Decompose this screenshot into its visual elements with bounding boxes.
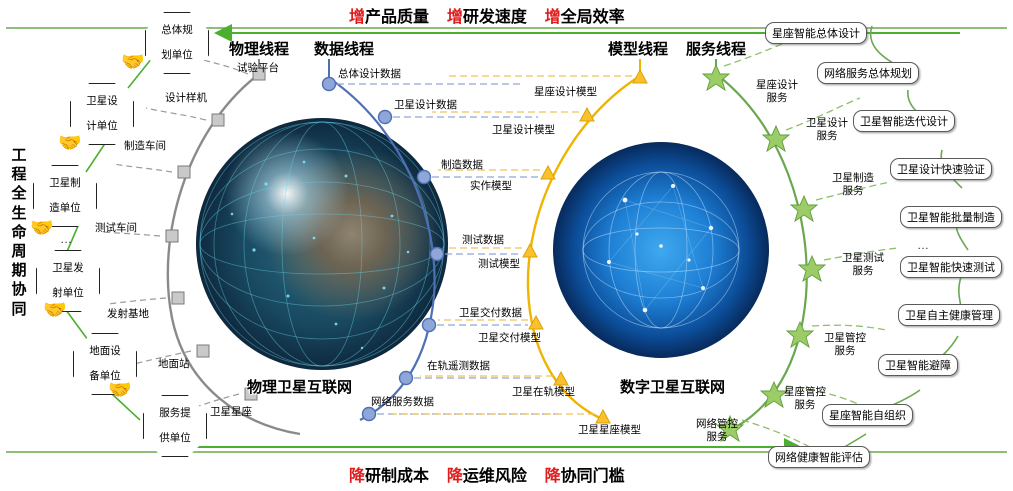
physical-globe-mesh (196, 118, 448, 370)
physical-node-label-6: 卫星星座 (210, 406, 252, 419)
unit-ellipsis: … (60, 232, 74, 246)
capability-box-8[interactable]: 星座智能自组织 (822, 404, 913, 426)
service-node-label-2: 卫星制造服务 (826, 172, 880, 197)
capability-box-4[interactable]: 卫星智能批量制造 (900, 206, 1002, 228)
digital-satellite-internet-globe (553, 142, 769, 358)
handshake-icon-4: 🤝 (108, 380, 132, 402)
top-banner-item-1: 增研发速度 (447, 9, 527, 26)
diagram-canvas: 增产品质量 增研发速度 增全局效率 降研制成本 降运维风险 降协同门槛 物理线程… (0, 0, 1013, 491)
capability-box-2[interactable]: 卫星智能迭代设计 (853, 110, 955, 132)
service-node-label-3: 卫星测试服务 (836, 252, 890, 277)
model-node-label-3: 测试模型 (478, 258, 520, 271)
bottom-banner-item-0: 降研制成本 (349, 468, 429, 485)
data-node-label-4: 卫星交付数据 (459, 307, 522, 320)
thread-header-service: 服务线程 (686, 38, 746, 59)
physical-satellite-internet-globe (196, 118, 448, 370)
physical-node-label-3: 测试车间 (95, 222, 137, 235)
top-banner-item-0: 增产品质量 (349, 9, 429, 26)
physical-node-label-5: 地面站 (158, 358, 190, 371)
handshake-icon-1: 🤝 (58, 133, 82, 155)
capability-box-5[interactable]: 卫星智能快速测试 (900, 256, 1002, 278)
service-node-label-1: 卫星设计服务 (800, 117, 854, 142)
data-node-label-2: 制造数据 (441, 159, 483, 172)
model-node-label-6: 卫星星座模型 (578, 424, 641, 437)
lifecycle-collaboration-label: 工程全生命周期协同 (6, 146, 32, 319)
physical-node-label-4: 发射基地 (107, 308, 149, 321)
data-node-label-6: 网络服务数据 (371, 396, 434, 409)
physical-node-label-1: 设计样机 (165, 92, 207, 105)
model-node-label-5: 卫星在轨模型 (512, 386, 575, 399)
service-node-label-0: 星座设计服务 (750, 79, 804, 104)
handshake-icon-3: 🤝 (43, 300, 67, 322)
unit-node-0[interactable]: 总体规划单位 (145, 12, 209, 74)
digital-globe-mesh (553, 142, 769, 358)
thread-header-data: 数据线程 (314, 38, 374, 59)
bottom-banner-item-1: 降运维风险 (447, 468, 527, 485)
capability-box-6[interactable]: 卫星自主健康管理 (898, 304, 1000, 326)
physical-node-label-0: 试验平台 (237, 62, 279, 75)
model-node-label-1: 卫星设计模型 (492, 124, 555, 137)
model-node-label-0: 星座设计模型 (534, 86, 597, 99)
data-node-label-5: 在轨遥测数据 (427, 360, 490, 373)
data-node-label-0: 总体设计数据 (338, 68, 401, 81)
physical-node-label-2: 制造车间 (124, 140, 166, 153)
unit-node-5[interactable]: 服务提供单位 (143, 395, 207, 457)
physical-globe-caption: 物理卫星互联网 (247, 376, 352, 397)
thread-header-model: 模型线程 (608, 38, 668, 59)
capability-ellipsis: … (917, 238, 931, 252)
bottom-banner-item-2: 降协同门槛 (545, 468, 625, 485)
model-node-label-2: 实作模型 (470, 180, 512, 193)
capability-box-1[interactable]: 网络服务总体规划 (817, 62, 919, 84)
data-node-label-1: 卫星设计数据 (394, 99, 457, 112)
model-node-label-4: 卫星交付模型 (478, 332, 541, 345)
thread-header-physical: 物理线程 (229, 38, 289, 59)
capability-box-7[interactable]: 卫星智能避障 (878, 354, 958, 376)
capability-box-3[interactable]: 卫星设计快速验证 (890, 158, 992, 180)
top-banner-item-2: 增全局效率 (545, 9, 625, 26)
data-node-label-3: 测试数据 (462, 234, 504, 247)
digital-globe-caption: 数字卫星互联网 (620, 376, 725, 397)
capability-box-9[interactable]: 网络健康智能评估 (768, 446, 870, 468)
capability-box-0[interactable]: 星座智能总体设计 (765, 22, 867, 44)
handshake-icon-0: 🤝 (121, 52, 145, 74)
service-node-label-4: 卫星管控服务 (818, 332, 872, 357)
handshake-icon-2: 🤝 (30, 218, 54, 240)
service-node-label-6: 网络管控服务 (690, 418, 744, 443)
bottom-banner: 降研制成本 降运维风险 降协同门槛 (349, 462, 625, 486)
top-banner: 增产品质量 增研发速度 增全局效率 (349, 3, 625, 27)
